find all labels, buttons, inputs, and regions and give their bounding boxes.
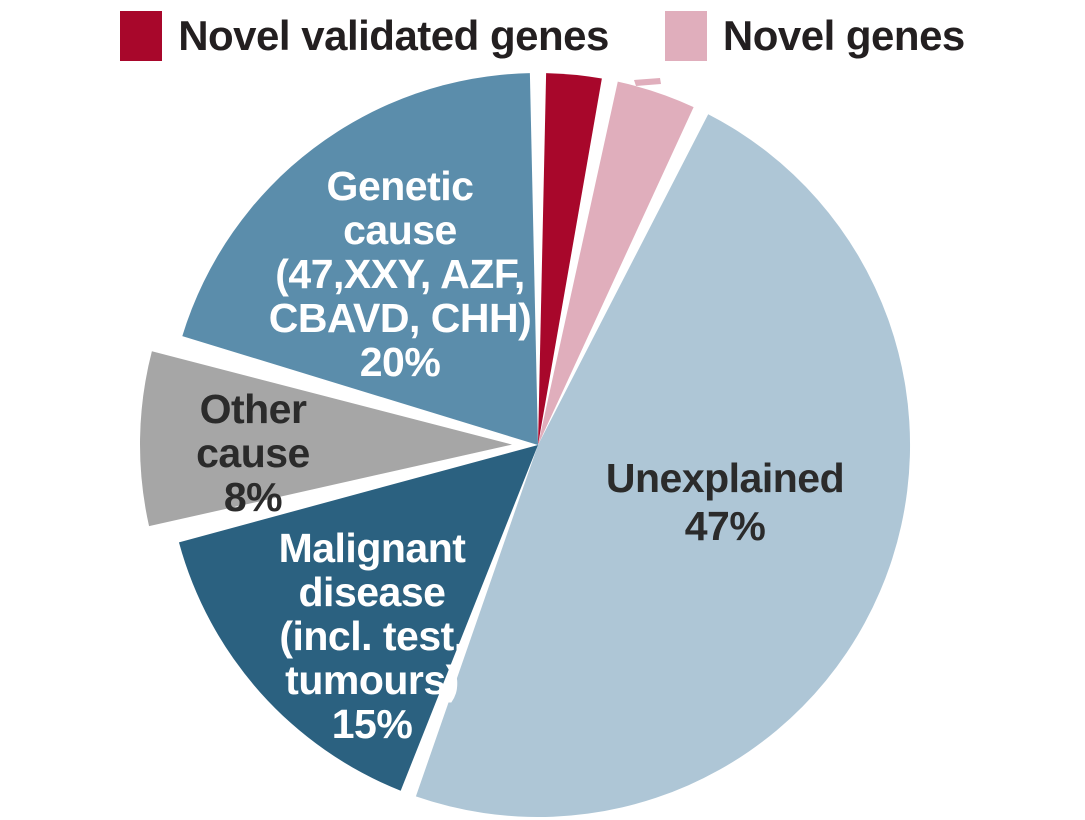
slice-label-malignant-line-3: tumours) [285, 657, 459, 703]
slice-label-malignant-line-0: Malignant [279, 525, 467, 571]
pink-fragment-artifact [634, 78, 661, 86]
slice-label-genetic-line-3: CBAVD, CHH) [269, 295, 532, 341]
slice-label-malignant-line-1: disease [299, 569, 446, 615]
slice-label-other-line-2: 8% [224, 474, 282, 520]
slice-label-other-line-1: cause [196, 430, 310, 476]
slice-label-unexplained-line-0: Unexplained [606, 455, 844, 501]
slice-label-genetic-line-2: (47,XXY, AZF, [275, 251, 524, 297]
slice-label-unexplained-line-1: 47% [685, 503, 766, 549]
slice-label-malignant-line-4: 15% [332, 701, 413, 747]
slice-label-genetic-line-4: 20% [360, 339, 441, 385]
slice-label-genetic-line-1: cause [343, 207, 457, 253]
slice-label-genetic-line-0: Genetic [327, 163, 474, 209]
slice-label-malignant-line-2: (incl. test. [279, 613, 464, 659]
pie-svg: Unexplained 47% Malignant disease (incl.… [0, 0, 1085, 820]
slice-label-other-line-0: Other [200, 386, 307, 432]
pie-chart-canvas: Unexplained 47% Malignant disease (incl.… [0, 0, 1085, 820]
pie-chart-figure: Novel validated genes Novel genes Unexpl… [0, 0, 1085, 820]
